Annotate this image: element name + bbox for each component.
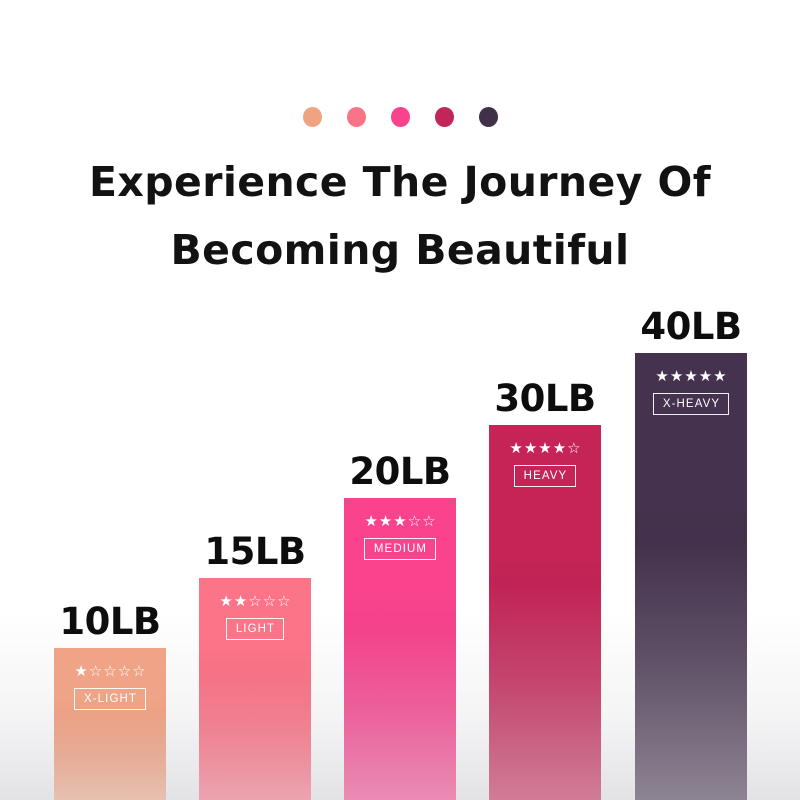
bar-30lb[interactable]: ★★★★☆HEAVY — [489, 425, 601, 800]
star-filled-icon: ★ — [713, 369, 726, 384]
bar-15lb-bottom-fade — [199, 671, 311, 800]
bar-30lb-content: ★★★★☆HEAVY — [489, 441, 601, 487]
star-filled-icon: ★ — [684, 369, 697, 384]
page-title: Experience The Journey Of Becoming Beaut… — [0, 148, 800, 284]
star-empty-icon: ☆ — [248, 594, 261, 609]
star-empty-icon: ☆ — [89, 664, 102, 679]
dot-heavy — [435, 107, 454, 127]
bar-40lb-weight-label: 40LB — [640, 307, 741, 347]
bar-40lb-group[interactable]: 40LB★★★★★X-HEAVY — [635, 301, 747, 800]
headline-line-1: Experience The Journey Of — [0, 148, 800, 216]
bar-15lb-tier-badge: LIGHT — [226, 618, 284, 640]
bar-30lb-bottom-fade — [489, 583, 601, 800]
star-filled-icon: ★ — [393, 514, 406, 529]
dot-light — [347, 107, 366, 127]
star-filled-icon: ★ — [538, 441, 551, 456]
star-filled-icon: ★ — [74, 664, 87, 679]
bar-15lb-rating-stars: ★★☆☆☆ — [219, 594, 290, 609]
star-filled-icon: ★ — [524, 441, 537, 456]
star-empty-icon: ☆ — [277, 594, 290, 609]
bar-15lb[interactable]: ★★☆☆☆LIGHT — [199, 578, 311, 800]
star-filled-icon: ★ — [655, 369, 668, 384]
bar-20lb-group[interactable]: 20LB★★★☆☆MEDIUM — [344, 446, 456, 800]
star-empty-icon: ☆ — [408, 514, 421, 529]
bar-20lb-rating-stars: ★★★☆☆ — [364, 514, 435, 529]
color-swatch-dot-row — [0, 107, 800, 127]
poster-canvas: Experience The Journey Of Becoming Beaut… — [0, 0, 800, 800]
bar-10lb-content: ★☆☆☆☆X-LIGHT — [54, 664, 166, 710]
bar-15lb-group[interactable]: 15LB★★☆☆☆LIGHT — [199, 526, 311, 800]
bar-10lb-bottom-fade — [54, 712, 166, 800]
bar-20lb[interactable]: ★★★☆☆MEDIUM — [344, 498, 456, 800]
star-empty-icon: ☆ — [263, 594, 276, 609]
dot-medium — [391, 107, 410, 127]
star-empty-icon: ☆ — [132, 664, 145, 679]
bar-40lb-content: ★★★★★X-HEAVY — [635, 369, 747, 415]
bar-20lb-weight-label: 20LB — [349, 452, 450, 492]
bar-40lb-tier-badge: X-HEAVY — [653, 393, 729, 415]
bar-30lb-weight-label: 30LB — [494, 379, 595, 419]
bar-30lb-tier-badge: HEAVY — [514, 465, 577, 487]
bar-20lb-content: ★★★☆☆MEDIUM — [344, 514, 456, 560]
bar-15lb-content: ★★☆☆☆LIGHT — [199, 594, 311, 640]
bar-20lb-bottom-fade — [344, 625, 456, 800]
bar-40lb[interactable]: ★★★★★X-HEAVY — [635, 353, 747, 800]
star-filled-icon: ★ — [234, 594, 247, 609]
bar-10lb-weight-label: 10LB — [59, 602, 160, 642]
star-filled-icon: ★ — [699, 369, 712, 384]
star-empty-icon: ☆ — [118, 664, 131, 679]
star-filled-icon: ★ — [509, 441, 522, 456]
star-filled-icon: ★ — [553, 441, 566, 456]
bar-30lb-group[interactable]: 30LB★★★★☆HEAVY — [489, 373, 601, 800]
headline-line-2: Becoming Beautiful — [0, 216, 800, 284]
bar-10lb[interactable]: ★☆☆☆☆X-LIGHT — [54, 648, 166, 800]
dot-x-heavy — [479, 107, 498, 127]
star-empty-icon: ☆ — [567, 441, 580, 456]
bar-10lb-rating-stars: ★☆☆☆☆ — [74, 664, 145, 679]
bar-30lb-rating-stars: ★★★★☆ — [509, 441, 580, 456]
star-filled-icon: ★ — [364, 514, 377, 529]
bar-40lb-rating-stars: ★★★★★ — [655, 369, 726, 384]
bar-15lb-weight-label: 15LB — [204, 532, 305, 572]
star-filled-icon: ★ — [670, 369, 683, 384]
star-filled-icon: ★ — [219, 594, 232, 609]
star-filled-icon: ★ — [379, 514, 392, 529]
star-empty-icon: ☆ — [103, 664, 116, 679]
bar-10lb-tier-badge: X-LIGHT — [74, 688, 146, 710]
bar-10lb-group[interactable]: 10LB★☆☆☆☆X-LIGHT — [54, 596, 166, 800]
bar-20lb-tier-badge: MEDIUM — [364, 538, 436, 560]
dot-x-light — [303, 107, 322, 127]
bar-40lb-bottom-fade — [635, 541, 747, 800]
star-empty-icon: ☆ — [422, 514, 435, 529]
